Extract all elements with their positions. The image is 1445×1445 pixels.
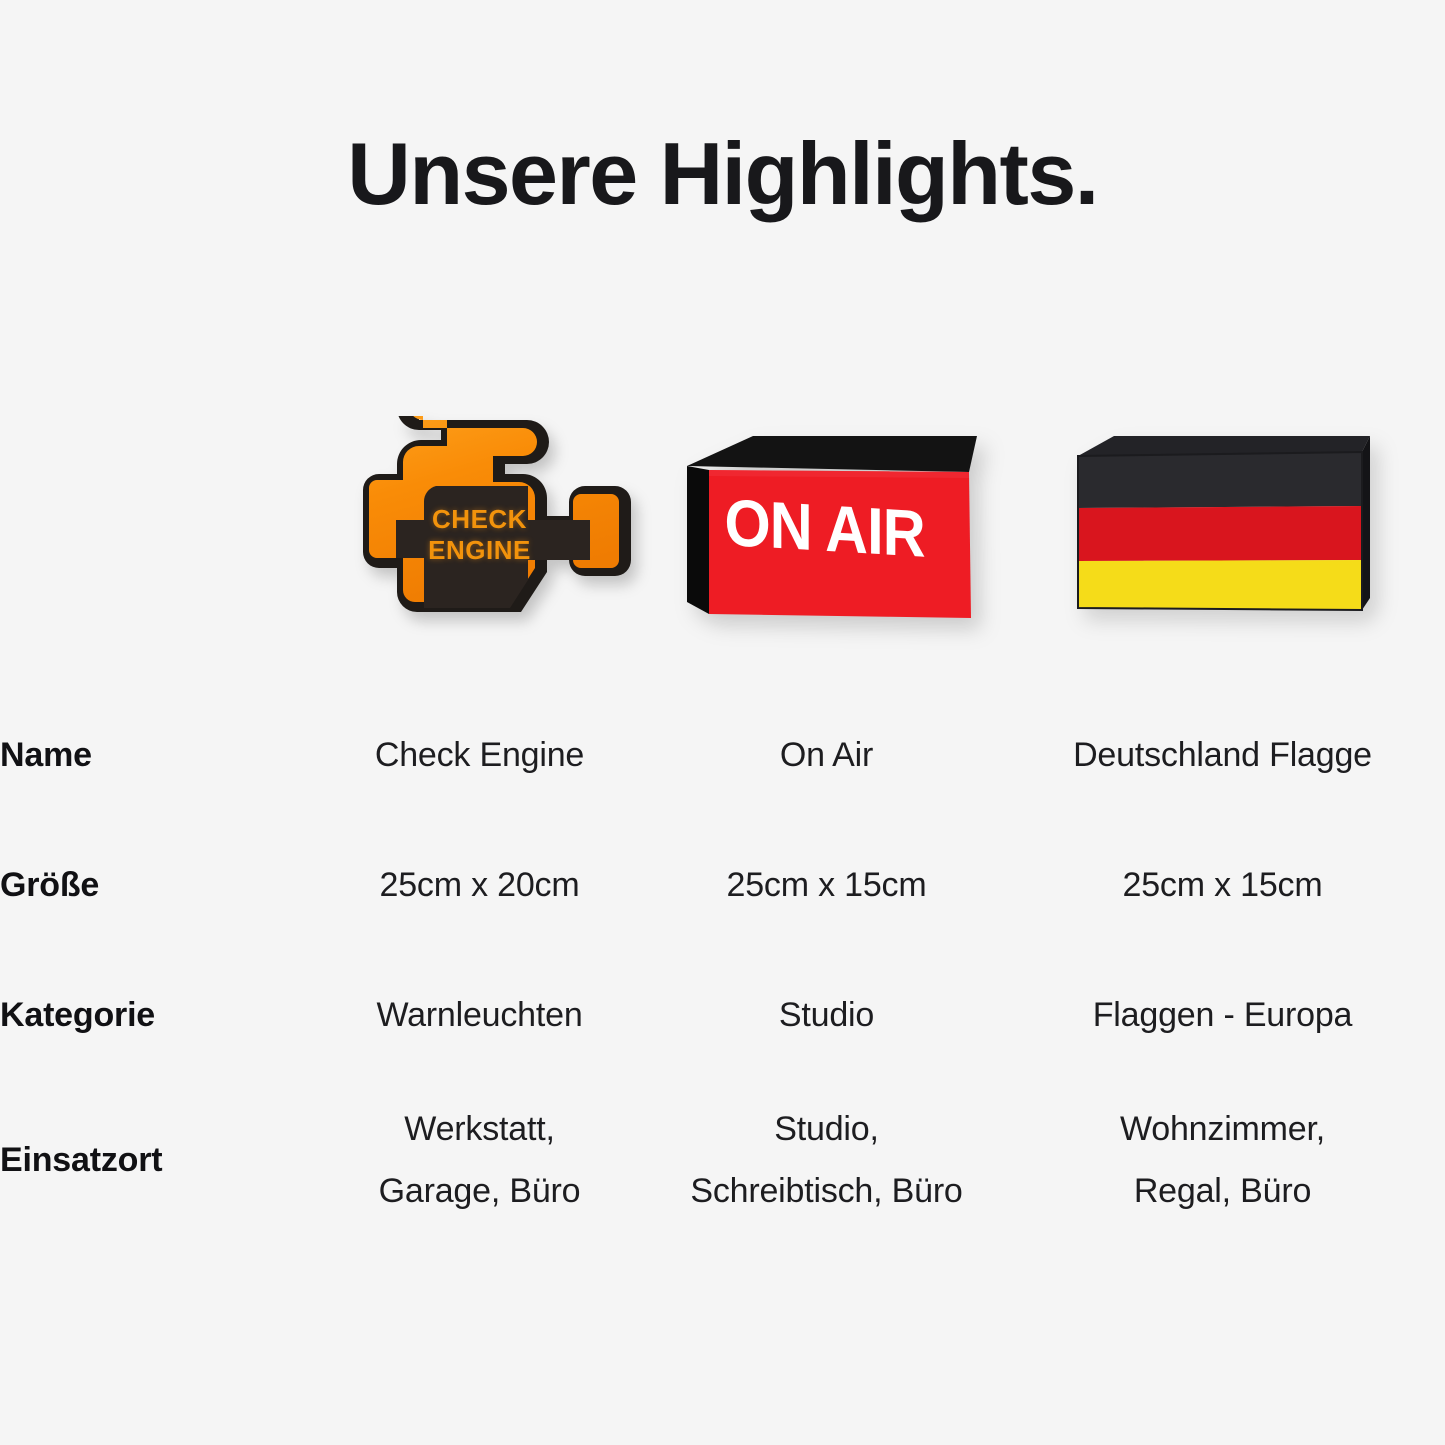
cell-einsatzort-deutschland-flagge-line1: Wohnzimmer, bbox=[1000, 1098, 1445, 1160]
cell-groesse-on-air: 25cm x 15cm bbox=[653, 820, 1000, 950]
table-row: Kategorie Warnleuchten Studio Flaggen - … bbox=[0, 950, 1445, 1080]
table-row: Größe 25cm x 20cm 25cm x 15cm 25cm x 15c… bbox=[0, 820, 1445, 950]
cell-kategorie-on-air: Studio bbox=[653, 950, 1000, 1080]
cell-einsatzort-check-engine-line2: Garage, Büro bbox=[306, 1160, 653, 1222]
table-row: Einsatzort Werkstatt, Garage, Büro Studi… bbox=[0, 1080, 1445, 1240]
product-image-on-air[interactable]: ON AIR bbox=[653, 405, 1000, 655]
cell-einsatzort-on-air: Studio, Schreibtisch, Büro bbox=[653, 1080, 1000, 1240]
product-image-row: CHECK ENGINE ON AIR bbox=[0, 405, 1445, 655]
specs-table: Name Check Engine On Air Deutschland Fla… bbox=[0, 690, 1445, 1240]
table-row: Name Check Engine On Air Deutschland Fla… bbox=[0, 690, 1445, 820]
cell-kategorie-deutschland-flagge: Flaggen - Europa bbox=[1000, 950, 1445, 1080]
cell-kategorie-check-engine: Warnleuchten bbox=[306, 950, 653, 1080]
product-image-check-engine[interactable]: CHECK ENGINE bbox=[306, 405, 653, 655]
cell-einsatzort-deutschland-flagge-line2: Regal, Büro bbox=[1000, 1160, 1445, 1222]
cell-name-on-air: On Air bbox=[653, 690, 1000, 820]
cell-groesse-deutschland-flagge: 25cm x 15cm bbox=[1000, 820, 1445, 950]
german-flag-box-svg bbox=[1070, 430, 1376, 630]
cell-einsatzort-deutschland-flagge: Wohnzimmer, Regal, Büro bbox=[1000, 1080, 1445, 1240]
row-label-einsatzort: Einsatzort bbox=[0, 1080, 306, 1240]
cell-name-deutschland-flagge: Deutschland Flagge bbox=[1000, 690, 1445, 820]
cell-einsatzort-on-air-line2: Schreibtisch, Büro bbox=[653, 1160, 1000, 1222]
row-label-name: Name bbox=[0, 690, 306, 820]
cell-einsatzort-check-engine-line1: Werkstatt, bbox=[306, 1098, 653, 1160]
row-label-groesse: Größe bbox=[0, 820, 306, 950]
on-air-lightbox: ON AIR bbox=[677, 432, 977, 628]
highlights-page: Unsere Highlights. bbox=[0, 0, 1445, 1445]
product-image-deutschland-flagge[interactable] bbox=[1000, 405, 1445, 655]
german-flag-lightbox bbox=[1070, 430, 1376, 630]
page-title: Unsere Highlights. bbox=[0, 126, 1445, 221]
row-label-kategorie: Kategorie bbox=[0, 950, 306, 1080]
cell-groesse-check-engine: 25cm x 20cm bbox=[306, 820, 653, 950]
cell-name-check-engine: Check Engine bbox=[306, 690, 653, 820]
check-engine-lamp-icon: CHECK ENGINE bbox=[324, 416, 636, 644]
cell-einsatzort-check-engine: Werkstatt, Garage, Büro bbox=[306, 1080, 653, 1240]
on-air-box-svg bbox=[677, 432, 977, 628]
image-row-label-spacer bbox=[0, 405, 306, 655]
check-engine-shape-svg bbox=[324, 416, 636, 644]
cell-einsatzort-on-air-line1: Studio, bbox=[653, 1098, 1000, 1160]
